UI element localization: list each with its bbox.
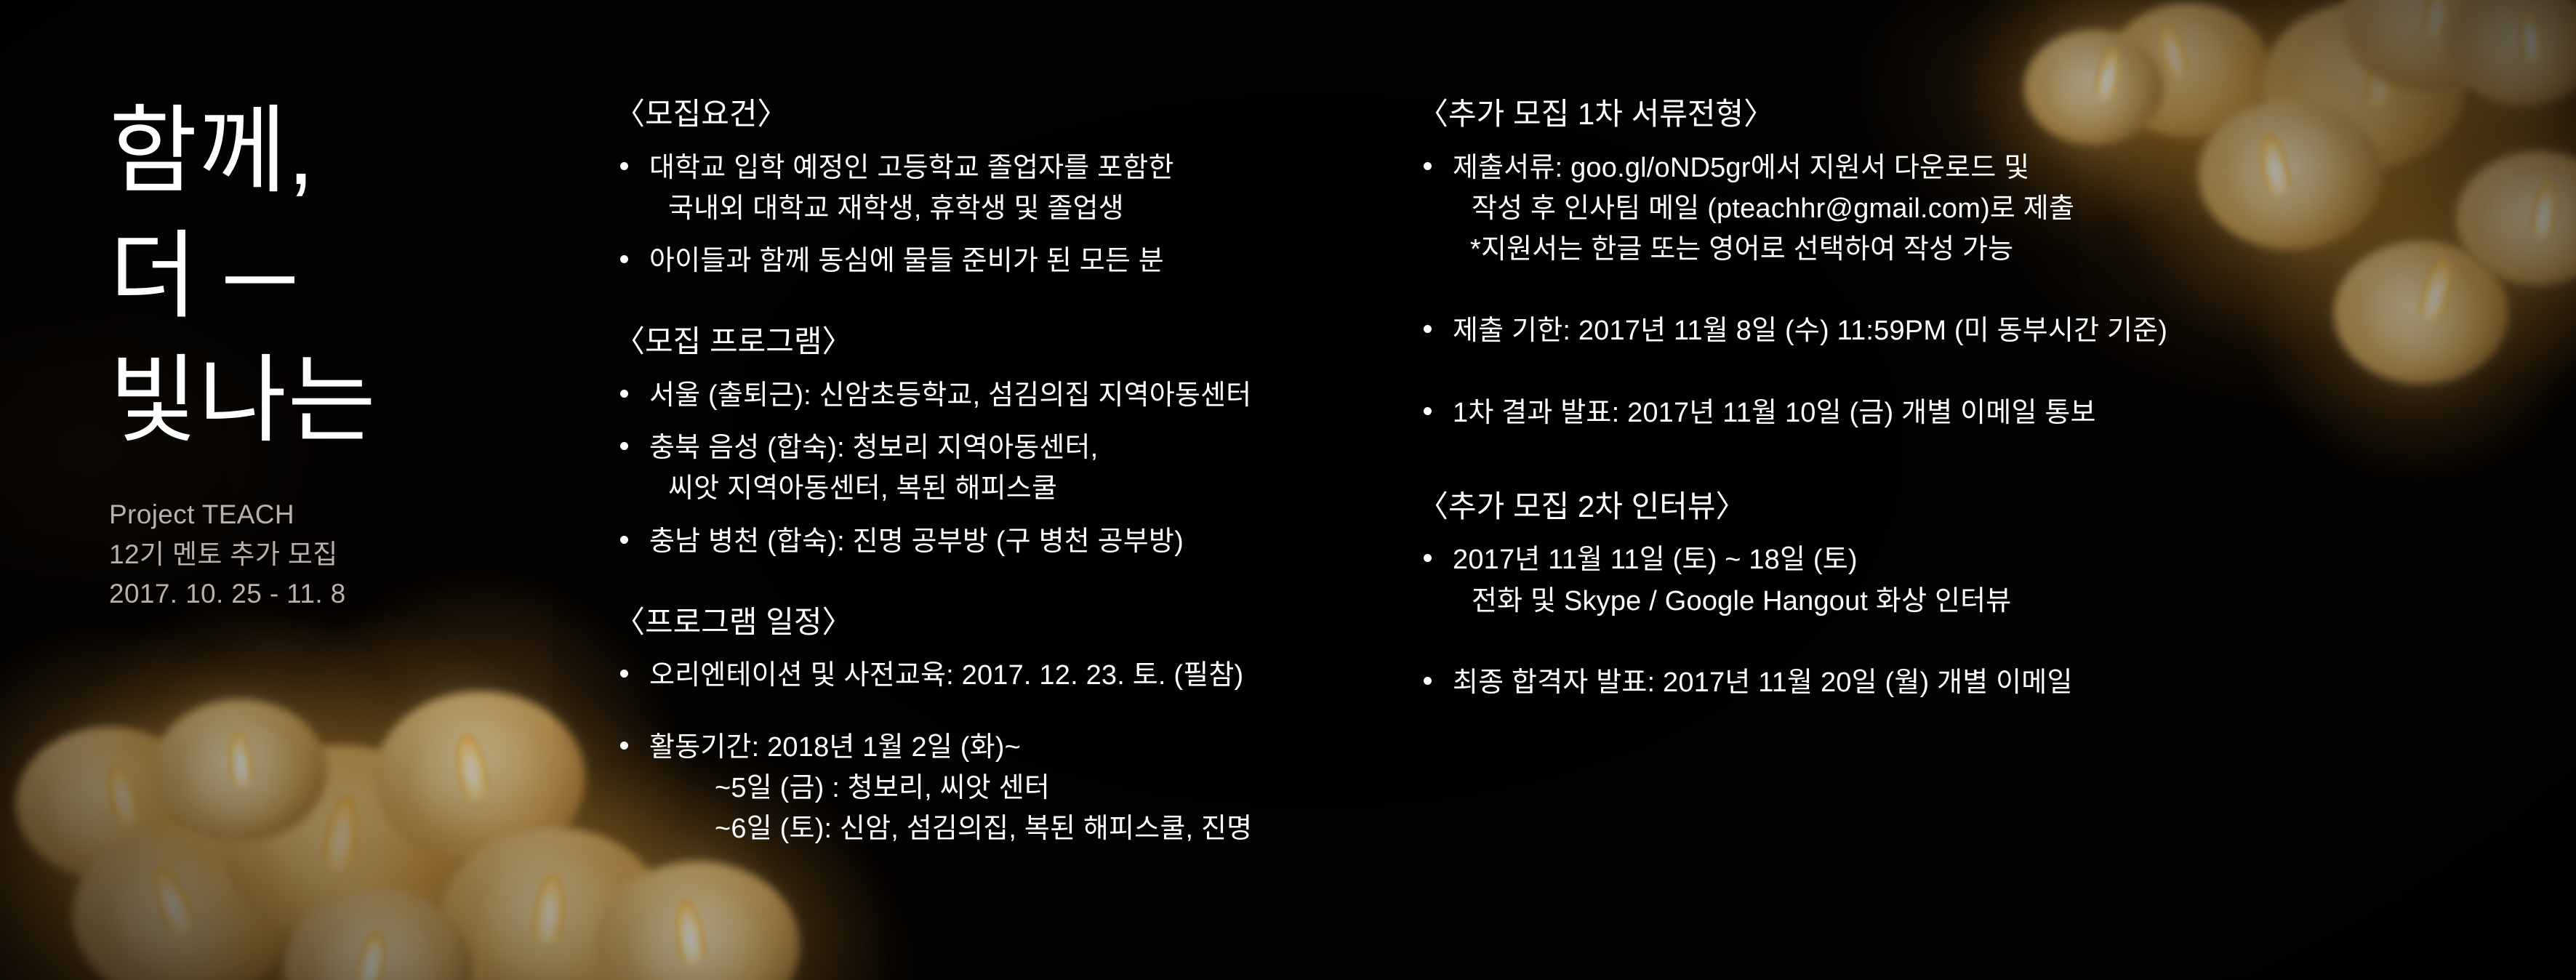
section: 〈모집 프로그램〉서울 (출퇴근): 신암초등학교, 섬김의집 지역아동센터충북… [614, 322, 1392, 562]
subtitle-cohort: 12기 멘토 추가 모집 [109, 535, 574, 575]
bullet-line: 국내외 대학교 재학생, 휴학생 및 졸업생 [649, 188, 1392, 229]
bullet-dot-icon [1424, 407, 1432, 415]
bullet-line: 서울 (출퇴근): 신암초등학교, 섬김의집 지역아동센터 [649, 375, 1392, 416]
section-spacer [614, 293, 1392, 322]
section-heading: 〈모집요건〉 [614, 95, 1392, 134]
bullet-item: 제출 기한: 2017년 11월 8일 (수) 11:59PM (미 동부시간 … [1418, 310, 2327, 351]
bullet-line: 오리엔테이션 및 사전교육: 2017. 12. 23. 토. (필참) [649, 655, 1392, 696]
bullet-dot-icon [620, 742, 628, 750]
bullet-line: 최종 합격자 발표: 2017년 11월 20일 (월) 개별 이메일 [1453, 662, 2327, 703]
bullet-item: 1차 결과 발표: 2017년 11월 10일 (금) 개별 이메일 통보 [1418, 393, 2327, 433]
title-line-3: 빛나는 [109, 338, 574, 463]
bullet-line: ~6일 (토): 신암, 섬김의집, 복된 해피스쿨, 진명 [649, 808, 1392, 849]
bullet-item: 활동기간: 2018년 1월 2일 (화)~~5일 (금) : 청보리, 씨앗 … [614, 727, 1392, 850]
title-line-1: 함께, [109, 89, 574, 214]
spacer [614, 708, 1392, 727]
section-spacer [614, 574, 1392, 603]
title-line-2: 더 ─ [109, 214, 574, 339]
bullet-list: 대학교 입학 예정인 고등학교 졸업자를 포함한국내외 대학교 재학생, 휴학생… [614, 148, 1392, 282]
bullet-item: 제출서류: goo.gl/oND5gr에서 지원서 다운로드 및작성 후 인사팀… [1418, 148, 2327, 270]
bullet-dot-icon [1424, 677, 1432, 685]
bullet-line: ~5일 (금) : 청보리, 씨앗 센터 [649, 768, 1392, 808]
bullet-line: 제출서류: goo.gl/oND5gr에서 지원서 다운로드 및 [1453, 148, 2327, 188]
spacer [1418, 364, 2327, 393]
bullet-item: 2017년 11월 11일 (토) ~ 18일 (토)전화 및 Skype / … [1418, 539, 2327, 621]
bullet-item: 오리엔테이션 및 사전교육: 2017. 12. 23. 토. (필참) [614, 655, 1392, 696]
subtitle-period: 2017. 10. 25 - 11. 8 [109, 574, 574, 614]
bullet-item: 서울 (출퇴근): 신암초등학교, 섬김의집 지역아동센터 [614, 375, 1392, 416]
middle-column: 〈모집요건〉대학교 입학 예정인 고등학교 졸업자를 포함한국내외 대학교 재학… [614, 95, 1392, 861]
bullet-dot-icon [620, 255, 628, 263]
bullet-dot-icon [620, 162, 628, 170]
bullet-list: 오리엔테이션 및 사전교육: 2017. 12. 23. 토. (필참)활동기간… [614, 655, 1392, 849]
bullet-list: 서울 (출퇴근): 신암초등학교, 섬김의집 지역아동센터충북 음성 (합숙):… [614, 375, 1392, 562]
bullet-dot-icon [620, 442, 628, 450]
section-heading: 〈추가 모집 1차 서류전형〉 [1418, 95, 2327, 134]
section: 〈추가 모집 2차 인터뷰〉2017년 11월 11일 (토) ~ 18일 (토… [1418, 487, 2327, 703]
section: 〈프로그램 일정〉오리엔테이션 및 사전교육: 2017. 12. 23. 토.… [614, 603, 1392, 850]
bullet-line: 작성 후 인사팀 메일 (pteachhr@gmail.com)로 제출 [1453, 188, 2327, 229]
bullet-item: 최종 합격자 발표: 2017년 11월 20일 (월) 개별 이메일 [1418, 662, 2327, 703]
bullet-dot-icon [1424, 162, 1432, 170]
subtitle-block: Project TEACH 12기 멘토 추가 모집 2017. 10. 25 … [109, 495, 574, 614]
bullet-item: 충남 병천 (합숙): 진명 공부방 (구 병천 공부방) [614, 521, 1392, 562]
bullet-line: 아이들과 함께 동심에 물들 준비가 된 모든 분 [649, 241, 1392, 281]
bullet-dot-icon [1424, 325, 1432, 333]
bullet-line: 2017년 11월 11일 (토) ~ 18일 (토) [1453, 539, 2327, 580]
spacer [1418, 281, 2327, 310]
poster-content: 함께, 더 ─ 빛나는 Project TEACH 12기 멘토 추가 모집 2… [0, 0, 2576, 980]
bullet-dot-icon [620, 390, 628, 398]
section-spacer [1418, 445, 2327, 487]
title-block: 함께, 더 ─ 빛나는 Project TEACH 12기 멘토 추가 모집 2… [109, 89, 574, 614]
bullet-line: 전화 및 Skype / Google Hangout 화상 인터뷰 [1453, 581, 2327, 622]
bullet-line: 1차 결과 발표: 2017년 11월 10일 (금) 개별 이메일 통보 [1453, 393, 2327, 433]
bullet-item: 아이들과 함께 동심에 물들 준비가 된 모든 분 [614, 241, 1392, 281]
spacer [1418, 633, 2327, 662]
bullet-list: 제출서류: goo.gl/oND5gr에서 지원서 다운로드 및작성 후 인사팀… [1418, 148, 2327, 433]
right-column: 〈추가 모집 1차 서류전형〉제출서류: goo.gl/oND5gr에서 지원서… [1418, 95, 2327, 715]
poster-canvas: 함께, 더 ─ 빛나는 Project TEACH 12기 멘토 추가 모집 2… [0, 0, 2576, 980]
bullet-dot-icon [1424, 554, 1432, 562]
bullet-line: *지원서는 한글 또는 영어로 선택하여 작성 가능 [1453, 229, 2327, 270]
section: 〈추가 모집 1차 서류전형〉제출서류: goo.gl/oND5gr에서 지원서… [1418, 95, 2327, 433]
bullet-line: 씨앗 지역아동센터, 복된 해피스쿨 [649, 468, 1392, 509]
bullet-dot-icon [620, 536, 628, 544]
section: 〈모집요건〉대학교 입학 예정인 고등학교 졸업자를 포함한국내외 대학교 재학… [614, 95, 1392, 281]
section-heading: 〈추가 모집 2차 인터뷰〉 [1418, 487, 2327, 527]
bullet-line: 충북 음성 (합숙): 청보리 지역아동센터, [649, 427, 1392, 468]
bullet-line: 제출 기한: 2017년 11월 8일 (수) 11:59PM (미 동부시간 … [1453, 310, 2327, 351]
section-heading: 〈프로그램 일정〉 [614, 603, 1392, 643]
bullet-line: 대학교 입학 예정인 고등학교 졸업자를 포함한 [649, 148, 1392, 188]
bullet-list: 2017년 11월 11일 (토) ~ 18일 (토)전화 및 Skype / … [1418, 539, 2327, 703]
bullet-line: 충남 병천 (합숙): 진명 공부방 (구 병천 공부방) [649, 521, 1392, 562]
bullet-line: 활동기간: 2018년 1월 2일 (화)~ [649, 727, 1392, 768]
section-heading: 〈모집 프로그램〉 [614, 322, 1392, 362]
bullet-dot-icon [620, 670, 628, 678]
bullet-item: 대학교 입학 예정인 고등학교 졸업자를 포함한국내외 대학교 재학생, 휴학생… [614, 148, 1392, 229]
subtitle-program: Project TEACH [109, 495, 574, 535]
bullet-item: 충북 음성 (합숙): 청보리 지역아동센터,씨앗 지역아동센터, 복된 해피스… [614, 427, 1392, 509]
